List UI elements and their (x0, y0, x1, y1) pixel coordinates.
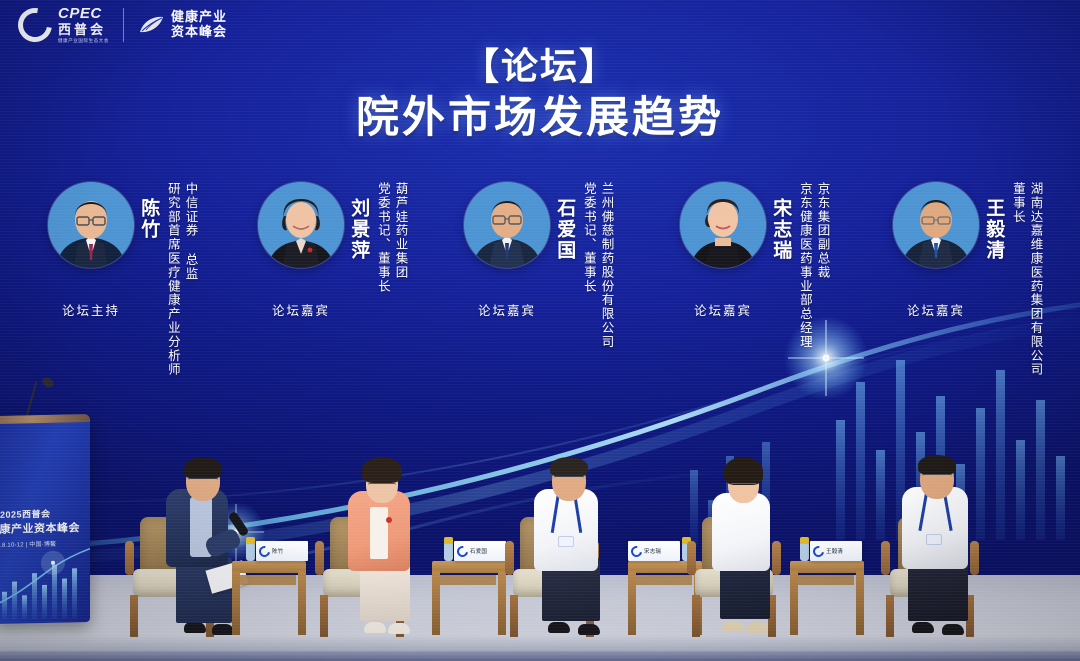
torso-shirt (534, 489, 598, 571)
panelist-name: 石爱国 (554, 198, 575, 261)
panelist-card-song-zhirui: 宋志瑞 京东集团副总裁 京东健康医药事业部总经理 论坛嘉宾 (680, 182, 830, 349)
table-leg-left (232, 571, 240, 635)
badge (558, 536, 574, 547)
panelist-name: 王毅清 (983, 198, 1004, 261)
forum-title-line1: 【论坛】 (0, 44, 1080, 90)
panelist-name: 陈竹 (138, 198, 159, 240)
shoe-right (942, 624, 964, 635)
podium-top-surface (0, 414, 90, 424)
panelist-title-col-1: 葫芦娃药业集团 (392, 182, 408, 293)
shoe-left (184, 622, 206, 633)
panelist-row: 陈竹 中信证券 总监 研究部首席医疗健康产业分析师 论坛主持 (0, 182, 1080, 422)
person-moderator-chen-zhu (150, 449, 242, 619)
cpec-logo-en: CPEC (58, 6, 109, 21)
chair-arm-left (881, 541, 890, 575)
chair-arm-left (687, 541, 696, 575)
table-leg-left (628, 571, 636, 635)
table-top (232, 561, 306, 573)
table-apron (234, 575, 296, 585)
summit-logo-line1: 健康产业 (171, 10, 227, 25)
badge (926, 534, 942, 545)
glasses (922, 474, 952, 481)
portrait-illustration (464, 182, 550, 268)
torso-shirt (902, 487, 968, 569)
nameplate-text: 宋志瑞 (644, 547, 661, 555)
nameplate-song-zhirui: 宋志瑞 (628, 541, 680, 561)
nameplate-logo-icon (629, 543, 644, 558)
shoe-left (364, 622, 386, 633)
water-bottle (444, 537, 453, 561)
panelist-card-liu-jingping: 刘景萍 葫芦娃药业集团 党委书记、董事长 论坛嘉宾 (258, 182, 408, 293)
hair (362, 457, 402, 483)
chair-leg-left (692, 595, 700, 637)
nameplate-logo-icon (455, 543, 470, 558)
nameplate-text: 陈竹 (272, 547, 283, 555)
panelist-photo-shi-aiguo (464, 182, 550, 268)
hair (724, 457, 763, 485)
table-apron (792, 575, 854, 585)
shoe-right (388, 623, 410, 634)
panelist-title-col-2: 京东健康医药事业部总经理 (796, 182, 812, 349)
glasses (554, 476, 584, 483)
chair-leg-left (510, 595, 518, 637)
cpec-ring-logo-icon (11, 1, 58, 48)
nameplate-shi-aiguo: 石爱国 (454, 541, 506, 561)
panelist-role: 论坛主持 (48, 300, 134, 319)
panelist-title-col-2: 党委书记、董事长 (580, 182, 596, 349)
panelist-title-col-1: 京东集团副总裁 (814, 182, 830, 349)
person-panelist-song-zhirui (700, 453, 784, 619)
shoe-right (212, 624, 234, 635)
podium-line2: 健康产业资本峰会 (0, 519, 90, 537)
podium-decorative-graphic (0, 542, 90, 624)
panelist-title-col-2: 董事长 (1009, 182, 1025, 377)
chair-arm-left (125, 541, 134, 575)
panelist-photo-liu-jingping (258, 182, 344, 268)
panelist-role: 论坛嘉宾 (893, 300, 979, 319)
glasses (188, 478, 218, 485)
panelist-photo-wang-yiqing (893, 182, 979, 268)
shoe-left (722, 621, 744, 632)
cpec-logo-cn: 西普会 (58, 23, 109, 36)
panelist-card-wang-yiqing: 王毅清 湖南达嘉维康医药集团有限公司 董事长 论坛嘉宾 (893, 182, 1043, 377)
panelist-title-col-1: 湖南达嘉维康医药集团有限公司 (1027, 182, 1043, 377)
table-apron (434, 575, 496, 585)
torso-blouse (712, 493, 770, 571)
panelist-name: 宋志瑞 (770, 198, 791, 261)
hair (550, 457, 588, 477)
table-leg-right (298, 571, 306, 635)
shoe-right (746, 622, 768, 633)
panelist-photo-song-zhirui (680, 182, 766, 268)
shoe-right (578, 624, 600, 635)
shoe-left (912, 622, 934, 633)
stage-scene: 2025西普会 健康产业资本峰会 2025.8.10-12 | 中国·博鳌 (0, 400, 1080, 661)
nameplate-logo-icon (811, 543, 826, 558)
panelist-card-shi-aiguo: 石爱国 兰州佛慈制药股份有限公司 党委书记、董事长 论坛嘉宾 (464, 182, 614, 349)
panelist-title-col-2: 党委书记、董事长 (374, 182, 390, 293)
table-leg-right (856, 571, 864, 635)
person-panelist-wang-yiqing (890, 447, 990, 619)
cpec-logo: CPEC 西普会 健康产业国际生态大会 (18, 6, 109, 44)
chair-leg-left (130, 595, 138, 637)
glasses (730, 483, 757, 489)
nameplate-logo-icon (257, 543, 272, 558)
shoe-left (548, 622, 570, 633)
panelist-title-col-1: 中信证券 总监 (182, 182, 198, 377)
panelist-title-col-1: 兰州佛慈制药股份有限公司 (598, 182, 614, 349)
panelist-title-col-2: 研究部首席医疗健康产业分析师 (164, 182, 180, 377)
conference-stage-screenshot: CPEC 西普会 健康产业国际生态大会 健康产业 资本峰会 【论坛】 院外市场发… (0, 0, 1080, 661)
table-apron (630, 575, 692, 585)
summit-logo-line2: 资本峰会 (171, 25, 227, 40)
chair-arm-left (505, 541, 514, 575)
panelist-role: 论坛嘉宾 (258, 300, 344, 319)
cpec-logo-subtitle: 健康产业国际生态大会 (58, 39, 109, 44)
nameplate-text: 石爱国 (470, 547, 487, 555)
hair (184, 457, 222, 479)
forum-title-line2: 院外市场发展趋势 (0, 92, 1080, 146)
portrait-illustration (680, 182, 766, 268)
chair-leg-left (320, 595, 328, 637)
glasses (368, 483, 396, 489)
logo-divider (123, 8, 124, 42)
table-top (790, 561, 864, 573)
podium: 2025西普会 健康产业资本峰会 2025.8.10-12 | 中国·博鳌 (0, 414, 90, 624)
table-leg-left (790, 571, 798, 635)
table-top (432, 561, 506, 573)
portrait-illustration (258, 182, 344, 268)
forum-title-block: 【论坛】 院外市场发展趋势 (0, 44, 1080, 146)
table-leg-right (498, 571, 506, 635)
person-panelist-shi-aiguo (520, 449, 614, 619)
nameplate-chen-zhu: 陈竹 (256, 541, 308, 561)
portrait-illustration (893, 182, 979, 268)
water-bottle (800, 537, 809, 561)
panelist-name: 刘景萍 (348, 198, 369, 261)
hair (918, 455, 956, 475)
water-bottle (246, 537, 255, 561)
panelist-card-chen-zhu: 陈竹 中信证券 总监 研究部首席医疗健康产业分析师 论坛主持 (48, 182, 198, 377)
header-logo-bar: CPEC 西普会 健康产业国际生态大会 健康产业 资本峰会 (18, 6, 227, 44)
nameplate-text: 王毅清 (826, 547, 843, 555)
person-panelist-liu-jingping (336, 451, 422, 619)
table-leg-left (432, 571, 440, 635)
panelist-role: 论坛嘉宾 (680, 300, 766, 319)
panelist-photo-chen-zhu (48, 182, 134, 268)
lapel-pin (386, 517, 392, 523)
summit-logo: 健康产业 资本峰会 (138, 10, 227, 39)
leaf-icon (138, 15, 164, 35)
portrait-illustration (48, 182, 134, 268)
chair-arm-left (315, 541, 324, 575)
blouse (370, 507, 388, 559)
panelist-role: 论坛嘉宾 (464, 300, 550, 319)
nameplate-wang-yiqing: 王毅清 (810, 541, 862, 561)
